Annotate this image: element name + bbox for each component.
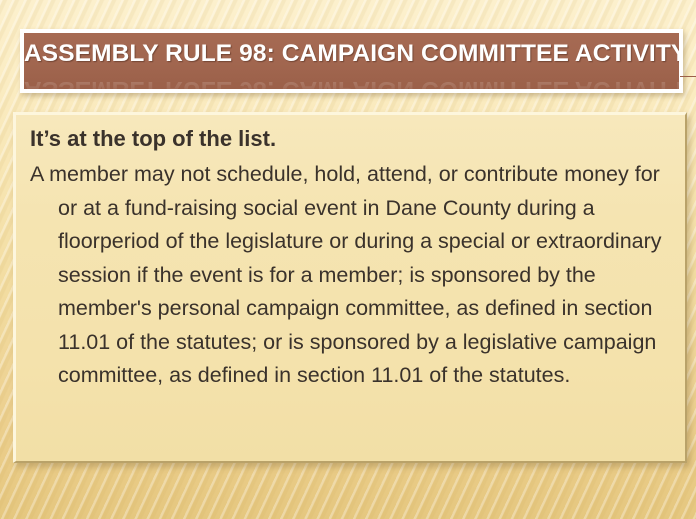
page-title-reflection: ASSEMBLY RULE 98: CAMPAIGN COMMITTEE ACT… (24, 75, 679, 89)
page-title: ASSEMBLY RULE 98: CAMPAIGN COMMITTEE ACT… (24, 40, 679, 68)
slide: ASSEMBLY RULE 98: CAMPAIGN COMMITTEE ACT… (0, 0, 696, 519)
title-accent-rule (680, 76, 696, 77)
body-paragraph: A member may not schedule, hold, attend,… (30, 158, 671, 393)
slide-title-frame: ASSEMBLY RULE 98: CAMPAIGN COMMITTEE ACT… (20, 29, 683, 93)
lead-line: It’s at the top of the list. (30, 124, 671, 154)
content-box: It’s at the top of the list. A member ma… (13, 112, 687, 463)
slide-title-banner: ASSEMBLY RULE 98: CAMPAIGN COMMITTEE ACT… (24, 33, 679, 89)
